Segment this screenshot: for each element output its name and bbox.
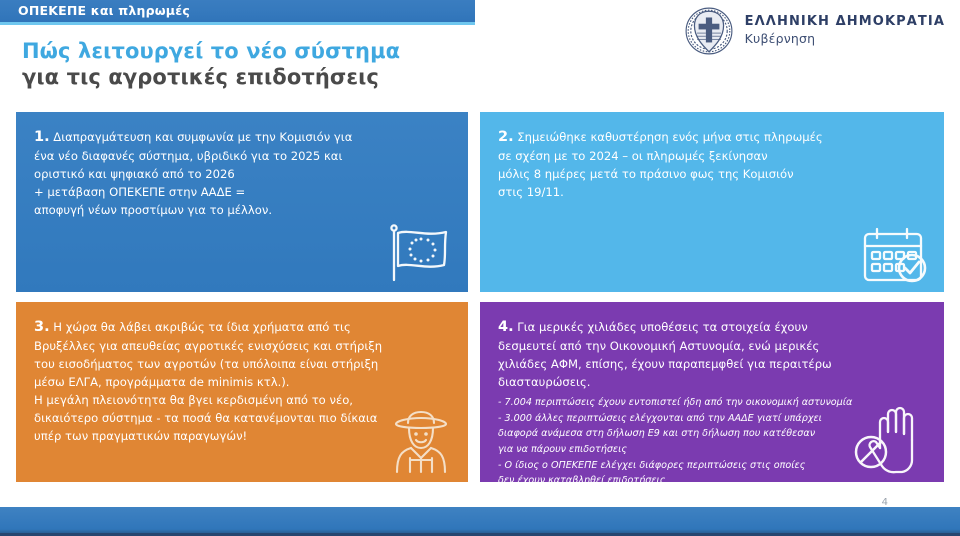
card-3-text: Η χώρα θα λάβει ακριβώς τα ίδια χρήματα … — [34, 320, 382, 443]
farmer-icon — [388, 408, 454, 474]
eu-flag-icon — [382, 222, 454, 284]
card-1-content: 1. Διαπραγμάτευση και συμφωνία με την Κο… — [34, 126, 450, 220]
stop-hand-icon — [852, 406, 930, 474]
info-card-2: 2. Σημειώθηκε καθυστέρηση ενός μήνα στις… — [480, 112, 944, 292]
card-2-text: Σημειώθηκε καθυστέρηση ενός μήνα στις πλ… — [498, 130, 823, 199]
card-1-number: 1. — [34, 129, 50, 145]
page-title: Πώς λειτουργεί το νέο σύστημα για τις αγ… — [22, 38, 642, 92]
page-title-line1: Πώς λειτουργεί το νέο σύστημα — [22, 38, 642, 64]
info-card-1: 1. Διαπραγμάτευση και συμφωνία με την Κο… — [16, 112, 468, 292]
greek-republic-emblem-icon — [683, 5, 735, 57]
page-title-line2: για τις αγροτικές επιδοτήσεις — [22, 64, 642, 91]
calendar-check-icon — [860, 226, 930, 284]
info-card-3: 3. Η χώρα θα λάβει ακριβώς τα ίδια χρήμα… — [16, 302, 468, 482]
banner-underline — [0, 22, 475, 25]
gov-logo-subtitle: Κυβέρνηση — [745, 32, 945, 46]
gov-logo-title: ΕΛΛΗΝΙΚΗ ΔΗΜΟΚΡΑΤΙΑ — [745, 15, 945, 30]
card-2-content: 2. Σημειώθηκε καθυστέρηση ενός μήνα στις… — [498, 126, 926, 202]
gov-logo-text: ΕΛΛΗΝΙΚΗ ΔΗΜΟΚΡΑΤΙΑ Κυβέρνηση — [745, 15, 945, 46]
top-banner-label: ΟΠΕΚΕΠΕ και πληρωμές — [18, 3, 190, 18]
card-4-content: 4. Για μερικές χιλιάδες υποθέσεις τα στο… — [498, 316, 926, 392]
card-4-text: Για μερικές χιλιάδες υποθέσεις τα στοιχε… — [498, 320, 832, 389]
card-2-number: 2. — [498, 129, 514, 145]
card-1-text: Διαπραγμάτευση και συμφωνία με την Κομισ… — [34, 130, 352, 217]
card-3-number: 3. — [34, 319, 50, 335]
footer-bar — [0, 507, 960, 536]
card-4-number: 4. — [498, 319, 514, 335]
greek-republic-logo: ΕΛΛΗΝΙΚΗ ΔΗΜΟΚΡΑΤΙΑ Κυβέρνηση — [683, 5, 945, 57]
info-card-4: 4. Για μερικές χιλιάδες υποθέσεις τα στο… — [480, 302, 944, 482]
top-banner: ΟΠΕΚΕΠΕ και πληρωμές — [0, 0, 475, 22]
